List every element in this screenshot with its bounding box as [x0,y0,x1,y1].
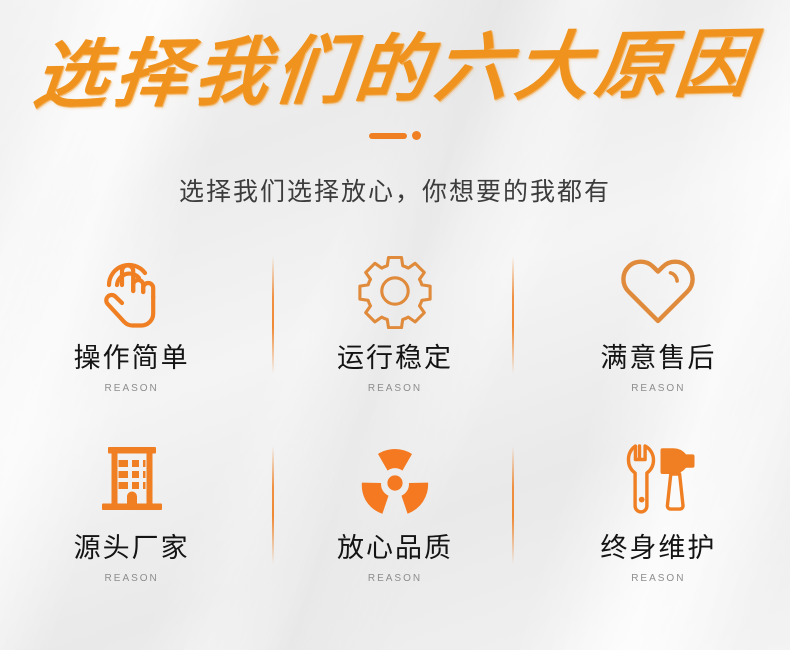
feature-sublabel: REASON [631,383,685,394]
divider-dot [412,131,421,140]
heart-icon [612,248,704,334]
wrench-hammer-icon [612,438,704,524]
feature-sublabel: REASON [105,573,159,584]
feature-grid: 操作简单 REASON 运行稳定 REASON [0,242,790,622]
feature-item[interactable]: 终身维护 REASON [527,432,790,622]
feature-item[interactable]: 源头厂家 REASON [0,432,263,622]
feature-label: 操作简单 [74,344,190,374]
page-title: 选择我们的六大原因 [0,27,790,115]
feature-label: 运行稳定 [337,344,453,374]
promo-banner: 选择我们的六大原因 选择我们选择放心，你想要的我都有 [0,0,790,650]
feature-item[interactable]: 操作简单 REASON [0,242,263,432]
radiation-icon [349,438,441,524]
gear-icon [349,248,441,334]
feature-item[interactable]: 放心品质 REASON [263,432,526,622]
page-subtitle: 选择我们选择放心，你想要的我都有 [0,172,790,208]
feature-label: 放心品质 [337,534,453,564]
feature-label: 终身维护 [600,534,716,564]
feature-item[interactable]: 运行稳定 REASON [263,242,526,432]
feature-label: 满意售后 [600,344,716,374]
feature-sublabel: REASON [105,383,159,394]
divider-bar [369,133,407,139]
header: 选择我们的六大原因 选择我们选择放心，你想要的我都有 [0,0,790,208]
feature-sublabel: REASON [631,573,685,584]
feature-sublabel: REASON [368,383,422,394]
feature-item[interactable]: 满意售后 REASON [527,242,790,432]
title-divider [369,130,421,142]
feature-label: 源头厂家 [74,534,190,564]
factory-building-icon [86,438,178,524]
hand-tap-icon [86,248,178,334]
feature-sublabel: REASON [368,573,422,584]
